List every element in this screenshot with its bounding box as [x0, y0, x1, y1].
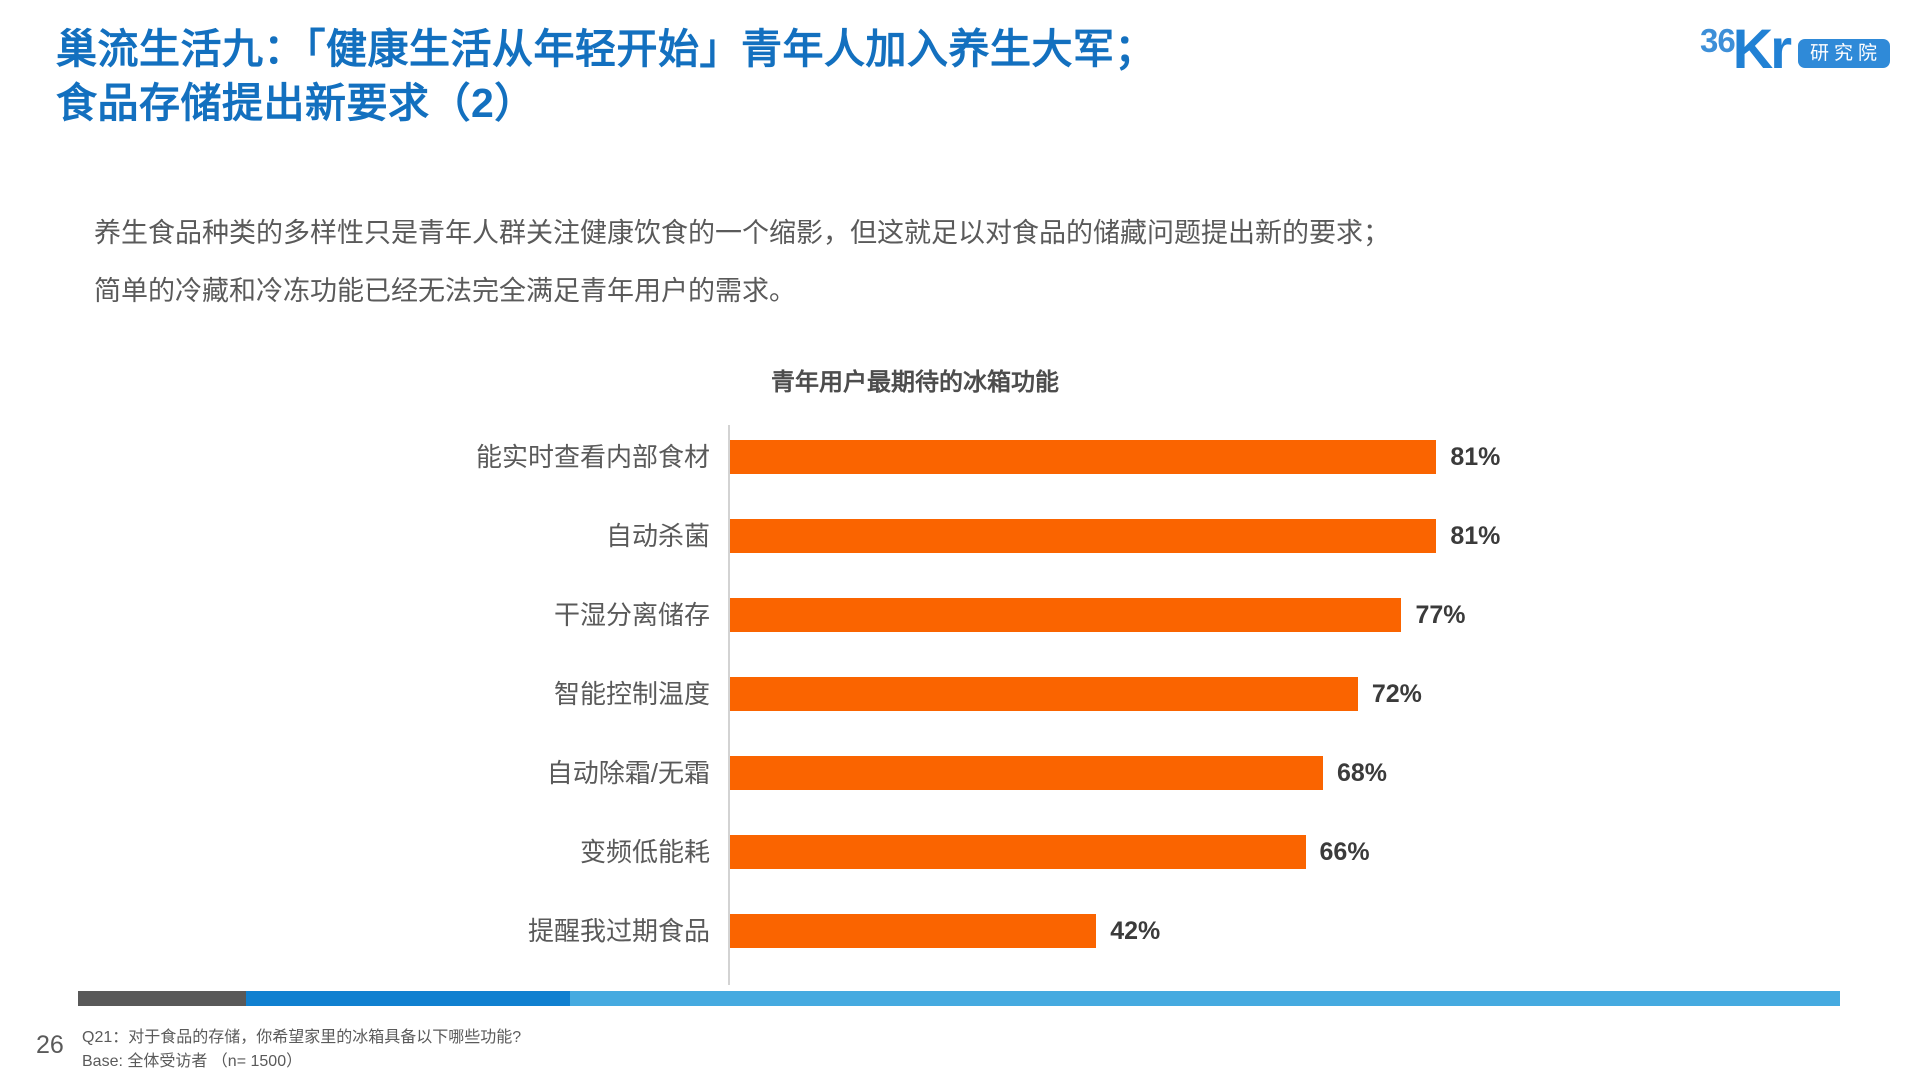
bar-row: 72%	[730, 677, 1422, 711]
footnote: Q21：对于食品的存储，你希望家里的冰箱具备以下哪些功能? Base: 全体受访…	[82, 1026, 521, 1074]
bar	[730, 519, 1436, 553]
bar	[730, 677, 1358, 711]
bar	[730, 756, 1323, 790]
bar-row: 66%	[730, 835, 1370, 869]
page-title-line-2: 食品存储提出新要求（2）	[56, 76, 1636, 130]
bar-value-label: 66%	[1320, 835, 1370, 869]
logo-badge: 研究院	[1798, 39, 1890, 68]
bar-row: 81%	[730, 440, 1500, 474]
page-title-line-1: 巢流生活九：「健康生活从年轻开始」青年人加入养生大军；	[56, 22, 1636, 76]
bar-value-label: 81%	[1450, 519, 1500, 553]
footnote-base: Base: 全体受访者 （n= 1500）	[82, 1050, 521, 1074]
bar	[730, 914, 1096, 948]
rule-segment-gray	[78, 991, 246, 1006]
chart-title: 青年用户最期待的冰箱功能	[0, 362, 1830, 397]
page-number: 26	[36, 1031, 64, 1060]
logo-numeral: 36	[1700, 24, 1735, 57]
lead-line-2: 简单的冷藏和冷冻功能已经无法完全满足青年用户的需求。	[94, 262, 1854, 320]
brand-logo: 36 Kr 研究院	[1700, 16, 1890, 78]
bar-category-label: 变频低能耗	[330, 835, 710, 869]
logo-wordmark: Kr	[1733, 21, 1789, 77]
bar-category-label: 能实时查看内部食材	[330, 440, 710, 474]
bar-category-label: 智能控制温度	[330, 677, 710, 711]
rule-segment-light-blue	[570, 991, 1840, 1006]
bar-row: 77%	[730, 598, 1465, 632]
slide: 巢流生活九：「健康生活从年轻开始」青年人加入养生大军； 食品存储提出新要求（2）…	[0, 0, 1920, 1080]
bar-row: 42%	[730, 914, 1160, 948]
bar-value-label: 77%	[1415, 598, 1465, 632]
bar-category-label: 自动杀菌	[330, 519, 710, 553]
bar-value-label: 68%	[1337, 756, 1387, 790]
bar-chart: 能实时查看内部食材81%自动杀菌81%干湿分离储存77%智能控制温度72%自动除…	[330, 425, 1630, 985]
bar-category-label: 自动除霜/无霜	[330, 756, 710, 790]
page-title: 巢流生活九：「健康生活从年轻开始」青年人加入养生大军； 食品存储提出新要求（2）	[56, 22, 1636, 130]
bar-category-label: 干湿分离储存	[330, 598, 710, 632]
bar-value-label: 81%	[1450, 440, 1500, 474]
bar	[730, 835, 1306, 869]
footnote-question: Q21：对于食品的存储，你希望家里的冰箱具备以下哪些功能?	[82, 1026, 521, 1050]
rule-segment-blue	[246, 991, 570, 1006]
lead-paragraph: 养生食品种类的多样性只是青年人群关注健康饮食的一个缩影，但这就足以对食品的储藏问…	[94, 204, 1854, 320]
bar-value-label: 42%	[1110, 914, 1160, 948]
lead-line-1: 养生食品种类的多样性只是青年人群关注健康饮食的一个缩影，但这就足以对食品的储藏问…	[94, 204, 1854, 262]
bar	[730, 440, 1436, 474]
bar-row: 68%	[730, 756, 1387, 790]
bar-category-label: 提醒我过期食品	[330, 914, 710, 948]
bar	[730, 598, 1401, 632]
bar-value-label: 72%	[1372, 677, 1422, 711]
bar-row: 81%	[730, 519, 1500, 553]
